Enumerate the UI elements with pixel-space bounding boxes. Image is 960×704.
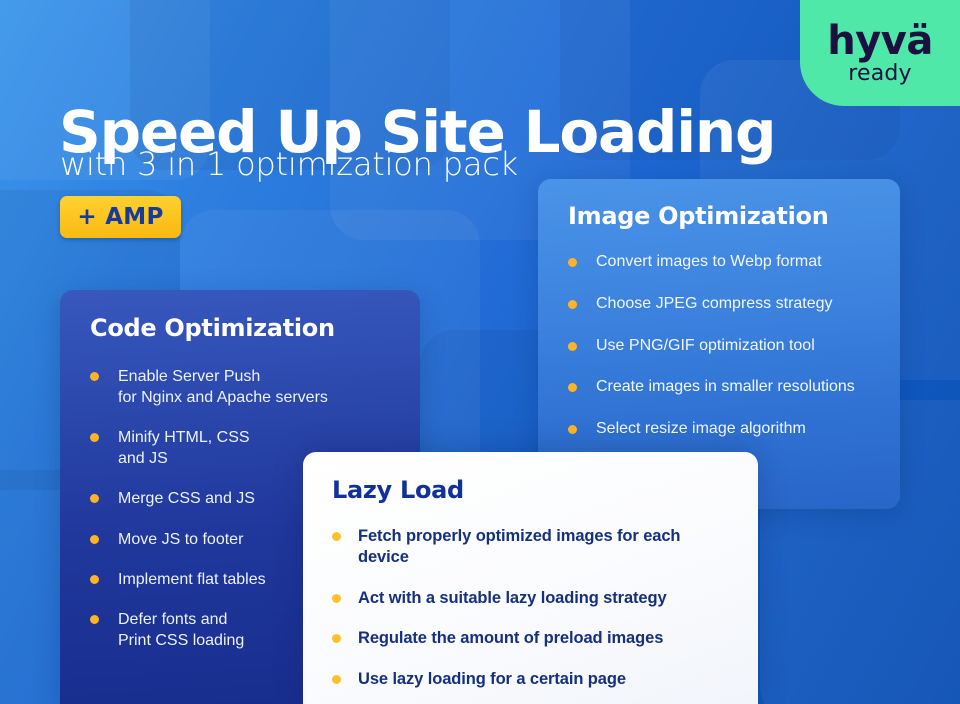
- bullet-dot-icon: [332, 634, 341, 643]
- list-item: Create images in smaller resolutions: [568, 377, 874, 398]
- list-item-label: Use lazy loading for a certain page: [358, 669, 626, 690]
- list-item-label: Implement flat tables: [118, 569, 266, 590]
- list-item-label: Move JS to footer: [118, 529, 243, 550]
- list-item-label: Choose JPEG compress strategy: [596, 294, 833, 315]
- list-item-label: Regulate the amount of preload images: [358, 628, 663, 649]
- bullet-dot-icon: [90, 575, 99, 584]
- card-title-code-optimization: Code Optimization: [90, 314, 392, 342]
- bullet-dot-icon: [568, 258, 577, 267]
- bullet-dot-icon: [568, 342, 577, 351]
- list-item: Regulate the amount of preload images: [332, 628, 732, 649]
- bullet-dot-icon: [332, 675, 341, 684]
- image-optimization-list: Convert images to Webp format Choose JPE…: [568, 252, 874, 440]
- bullet-dot-icon: [90, 615, 99, 624]
- bullet-dot-icon: [90, 535, 99, 544]
- bullet-dot-icon: [332, 594, 341, 603]
- promo-banner: hyvä ready Speed Up Site Loading with 3 …: [0, 0, 960, 704]
- page-subtitle: with 3 in 1 optimization pack: [60, 145, 518, 183]
- list-item-label: Select resize image algorithm: [596, 419, 806, 440]
- card-title-image-optimization: Image Optimization: [568, 202, 874, 230]
- bullet-dot-icon: [332, 532, 341, 541]
- card-title-lazy-load: Lazy Load: [332, 476, 732, 504]
- lazy-load-list: Fetch properly optimized images for each…: [332, 526, 732, 690]
- list-item-label: Enable Server Push for Nginx and Apache …: [118, 366, 328, 408]
- list-item-label: Act with a suitable lazy loading strateg…: [358, 588, 667, 609]
- list-item: Use PNG/GIF optimization tool: [568, 336, 874, 357]
- hyva-ready-badge: hyvä ready: [800, 0, 960, 106]
- card-lazy-load: Lazy Load Fetch properly optimized image…: [303, 452, 758, 704]
- amp-badge-button[interactable]: + AMP: [60, 196, 181, 238]
- list-item-label: Create images in smaller resolutions: [596, 377, 855, 398]
- bullet-dot-icon: [568, 300, 577, 309]
- list-item: Enable Server Push for Nginx and Apache …: [90, 366, 392, 408]
- bullet-dot-icon: [90, 494, 99, 503]
- list-item-label: Convert images to Webp format: [596, 252, 822, 273]
- list-item: Choose JPEG compress strategy: [568, 294, 874, 315]
- list-item: Fetch properly optimized images for each…: [332, 526, 732, 569]
- bullet-dot-icon: [90, 372, 99, 381]
- hyva-ready-label: ready: [848, 63, 912, 85]
- list-item: Act with a suitable lazy loading strateg…: [332, 588, 732, 609]
- list-item-label: Minify HTML, CSS and JS: [118, 427, 250, 469]
- bullet-dot-icon: [568, 383, 577, 392]
- list-item: Select resize image algorithm: [568, 419, 874, 440]
- list-item-label: Fetch properly optimized images for each…: [358, 526, 732, 569]
- hyva-logo-wordmark: hyvä: [827, 21, 933, 61]
- list-item: Convert images to Webp format: [568, 252, 874, 273]
- list-item-label: Defer fonts and Print CSS loading: [118, 609, 244, 651]
- list-item-label: Merge CSS and JS: [118, 488, 255, 509]
- list-item-label: Use PNG/GIF optimization tool: [596, 336, 815, 357]
- bullet-dot-icon: [90, 433, 99, 442]
- bullet-dot-icon: [568, 425, 577, 434]
- list-item: Use lazy loading for a certain page: [332, 669, 732, 690]
